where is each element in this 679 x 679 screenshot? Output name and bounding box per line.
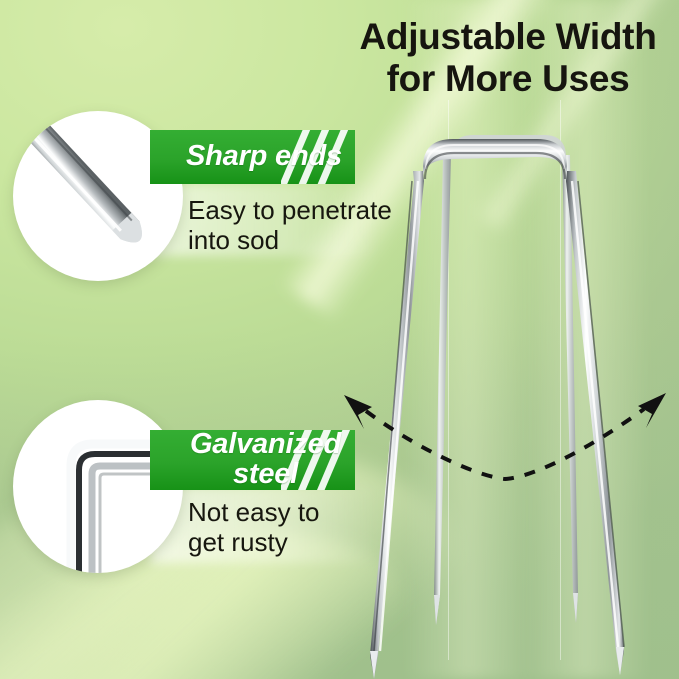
feature-banner-galvanized-steel: Galvanized steel <box>150 430 355 490</box>
page-title: Adjustable Width for More Uses <box>340 16 676 100</box>
feature-caption-line-1: Not easy to <box>188 498 418 528</box>
feature-banner-label-sharp-ends: Sharp ends <box>150 142 355 172</box>
page-title-line-2: for More Uses <box>340 58 676 100</box>
feature-caption-line-2: get rusty <box>188 528 418 558</box>
feature-banner-sharp-ends: Sharp ends <box>150 130 355 184</box>
staple-sharp-tips <box>370 593 624 679</box>
feature-caption-galvanized-steel: Not easy to get rusty <box>188 498 418 557</box>
feature-banner-label-galvanized-steel: Galvanized steel <box>150 430 355 489</box>
product-infographic-poster: Adjustable Width for More Uses <box>0 0 679 679</box>
feature-caption-line-2: into sod <box>188 226 418 256</box>
feature-caption-line-1: Easy to penetrate <box>188 196 418 226</box>
feature-banner-label-line-1: Galvanized <box>176 430 355 460</box>
page-title-line-1: Adjustable Width <box>340 16 676 58</box>
feature-caption-sharp-ends: Easy to penetrate into sod <box>188 196 418 255</box>
dashed-curve-line <box>366 409 644 479</box>
adjustable-width-arrows <box>330 385 679 500</box>
feature-banner-label-line-2: steel <box>176 460 355 490</box>
